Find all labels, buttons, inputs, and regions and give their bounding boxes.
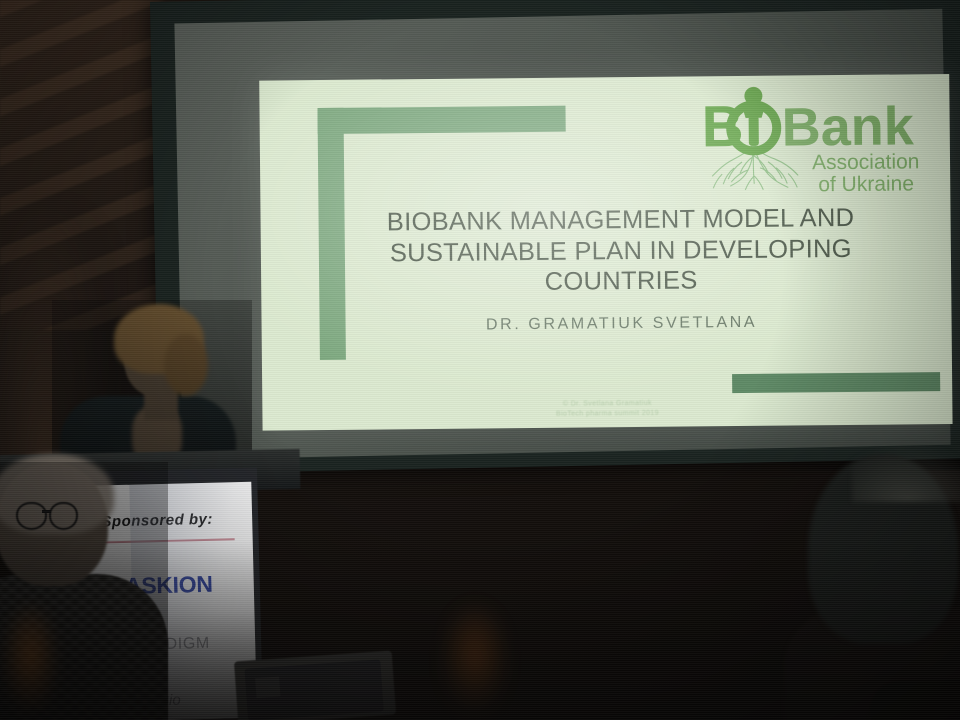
audience-right-hair: [852, 442, 960, 502]
biobank-logo: B Bank Association of Ukraine: [697, 80, 936, 204]
projection-screen: B Bank Association of Ukraine BIOBANK MA…: [150, 0, 960, 482]
presentation-slide: B Bank Association of Ukraine BIOBANK MA…: [259, 74, 952, 431]
decorative-bracket-horizontal: [317, 106, 565, 134]
floor-shadow: [0, 540, 960, 720]
slide-author: DR. GRAMATIUK SVETLANA: [322, 312, 922, 336]
slide-title: BIOBANK MANAGEMENT MODEL AND SUSTAINABLE…: [320, 202, 921, 300]
decorative-bar-bottom-right: [732, 372, 940, 393]
svg-text:of Ukraine: of Ukraine: [818, 172, 914, 196]
photo-scene: B Bank Association of Ukraine BIOBANK MA…: [0, 0, 960, 720]
slide-footer: © Dr. Svetlana Gramatiuk BioTech pharma …: [262, 396, 952, 423]
svg-text:Association: Association: [812, 150, 920, 174]
svg-text:Bank: Bank: [781, 96, 915, 157]
